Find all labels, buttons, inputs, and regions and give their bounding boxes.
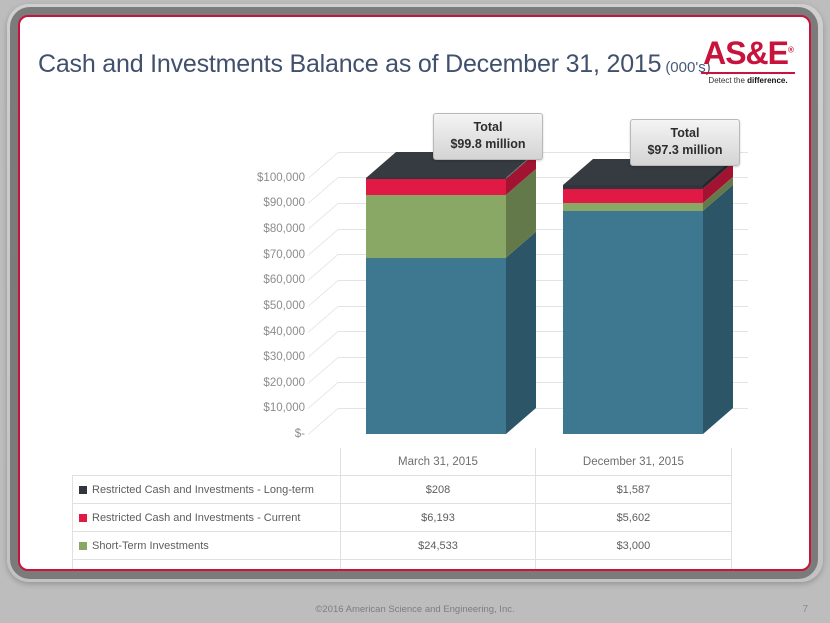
grid-depth-line	[308, 357, 339, 384]
total-callout-q1: Total $99.8 million	[433, 113, 543, 160]
logo-tagline-prefix: Detect the	[708, 76, 747, 85]
table-column-header-0: March 31, 2015	[341, 448, 536, 476]
logo-wordmark: AS&E®	[701, 37, 795, 69]
table-row: Restricted Cash and Investments - Long-t…	[73, 476, 732, 504]
grid-depth-line	[308, 383, 339, 410]
bar-side-face	[703, 185, 733, 434]
table-column-header-1: December 31, 2015	[535, 448, 731, 476]
table-cell-value: $6,193	[341, 504, 536, 532]
series-label: Restricted Cash and Investments - Curren…	[92, 512, 300, 524]
bar-segment[interactable]	[563, 211, 703, 434]
table-cell-value: $5,602	[535, 504, 731, 532]
y-axis-tick-label: $20,000	[235, 377, 305, 389]
table-row: Cash and Cash Equivalents$68,835$87,151	[73, 560, 732, 572]
total-callout-q1-value: $99.8 million	[444, 136, 532, 153]
table-row-label: Cash and Cash Equivalents	[73, 560, 341, 572]
table-row: Short-Term Investments$24,533$3,000	[73, 532, 732, 560]
y-axis-tick-label: $30,000	[235, 351, 305, 363]
bar-side-face	[506, 178, 536, 434]
table-cell-value: $68,835	[341, 560, 536, 572]
logo-divider	[701, 72, 795, 74]
bar-side-segment	[703, 185, 733, 434]
series-label: Short-Term Investments	[92, 540, 209, 552]
legend-swatch-icon	[79, 570, 87, 571]
series-label: Cash and Cash Equivalents	[92, 568, 228, 572]
total-callout-q1-label: Total	[444, 119, 532, 136]
grid-depth-line	[308, 280, 339, 307]
chart-area: $100,000$90,000$80,000$70,000$60,000$50,…	[20, 105, 811, 445]
bar-segment[interactable]	[563, 203, 703, 211]
footer-copyright: ©2016 American Science and Engineering, …	[0, 604, 830, 615]
y-axis-tick-label: $90,000	[235, 197, 305, 209]
grid-depth-line	[308, 408, 339, 435]
slide-canvas: Cash and Investments Balance as of Decem…	[18, 15, 811, 571]
logo-text: AS&E	[703, 35, 788, 71]
table-cell-value: $208	[341, 476, 536, 504]
page-title-container: Cash and Investments Balance as of Decem…	[38, 50, 698, 79]
legend-swatch-icon	[79, 542, 87, 550]
data-table: March 31, 2015 December 31, 2015 Restric…	[72, 448, 732, 571]
table-cell-value: $1,587	[535, 476, 731, 504]
grid-depth-line	[308, 152, 339, 179]
grid-depth-line	[308, 306, 339, 333]
bar-segment[interactable]	[563, 189, 703, 203]
y-axis-tick-label: $60,000	[235, 274, 305, 286]
logo-tagline: Detect the difference.	[701, 76, 795, 85]
y-axis-tick-label: $100,000	[235, 172, 305, 184]
grid-depth-line	[308, 178, 339, 205]
total-callout-q4-label: Total	[641, 125, 729, 142]
y-axis-tick-label: $-	[235, 428, 305, 440]
grid-depth-line	[308, 229, 339, 256]
ase-logo: AS&E® Detect the difference.	[701, 37, 795, 85]
y-axis-tick-label: $10,000	[235, 402, 305, 414]
table-header-row: March 31, 2015 December 31, 2015	[73, 448, 732, 476]
table-row: Restricted Cash and Investments - Curren…	[73, 504, 732, 532]
table-row-label: Restricted Cash and Investments - Curren…	[73, 504, 341, 532]
table-corner-cell	[73, 448, 341, 476]
bar-column[interactable]	[563, 185, 703, 434]
bar-segment[interactable]	[366, 195, 506, 258]
legend-swatch-icon	[79, 514, 87, 522]
table-body: Restricted Cash and Investments - Long-t…	[73, 476, 732, 572]
total-callout-q4-value: $97.3 million	[641, 142, 729, 159]
bar-side-segment	[506, 232, 536, 434]
grid-depth-line	[308, 254, 339, 281]
y-axis-tick-label: $40,000	[235, 326, 305, 338]
y-axis-tick-label: $80,000	[235, 223, 305, 235]
table-cell-value: $24,533	[341, 532, 536, 560]
y-axis-tick-label: $70,000	[235, 249, 305, 261]
total-callout-q4: Total $97.3 million	[630, 119, 740, 166]
table-cell-value: $3,000	[535, 532, 731, 560]
logo-tagline-bold: difference.	[747, 76, 787, 85]
grid-depth-line	[308, 203, 339, 230]
table-row-label: Restricted Cash and Investments - Long-t…	[73, 476, 341, 504]
page-title: Cash and Investments Balance as of Decem…	[38, 50, 661, 78]
grid-depth-line	[308, 331, 339, 358]
table-cell-value: $87,151	[535, 560, 731, 572]
y-axis-tick-label: $50,000	[235, 300, 305, 312]
bar-segment[interactable]	[366, 179, 506, 195]
bar-segment[interactable]	[366, 258, 506, 434]
registered-trademark-icon: ®	[788, 45, 793, 54]
table-row-label: Short-Term Investments	[73, 532, 341, 560]
series-label: Restricted Cash and Investments - Long-t…	[92, 484, 314, 496]
footer-page-number: 7	[802, 604, 808, 615]
y-axis: $100,000$90,000$80,000$70,000$60,000$50,…	[225, 105, 305, 445]
bar-column[interactable]	[366, 178, 506, 434]
legend-swatch-icon	[79, 486, 87, 494]
